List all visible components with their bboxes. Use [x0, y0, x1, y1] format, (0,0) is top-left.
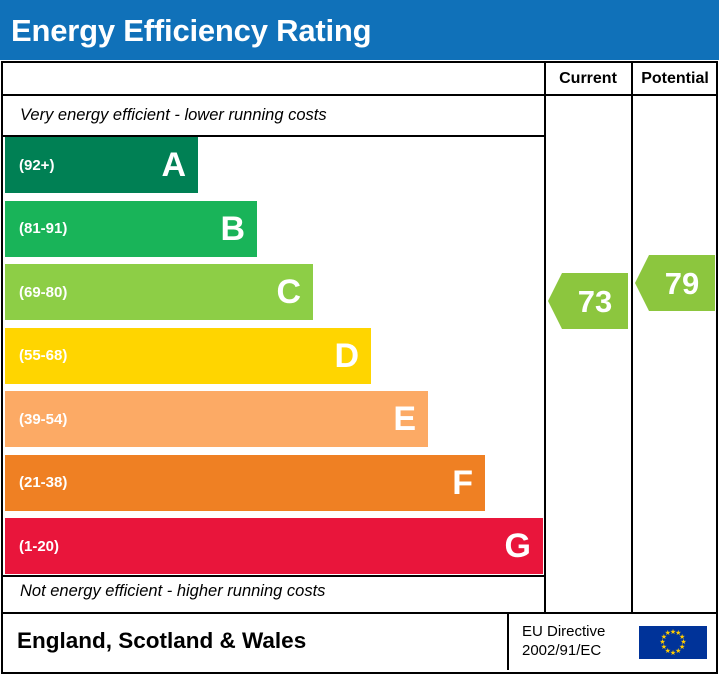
band-letter-f: F — [452, 466, 473, 500]
eu-star-icon: ★ — [664, 630, 671, 637]
rating-band-row-b: (81-91)B — [5, 201, 544, 257]
band-range-f: (21-38) — [19, 474, 67, 491]
rating-value-current: 73 — [564, 286, 612, 317]
chart-header: Energy Efficiency Rating — [0, 0, 719, 60]
band-range-g: (1-20) — [19, 538, 59, 555]
rating-band-row-d: (55-68)D — [5, 328, 544, 384]
rating-bar-f: (21-38)F — [5, 455, 485, 511]
chart-body: Current Potential Very energy efficient … — [1, 61, 718, 614]
eu-flag-icon: ★★★★★★★★★★★★ — [639, 626, 707, 659]
rating-band-row-a: (92+)A — [5, 137, 544, 193]
band-range-d: (55-68) — [19, 347, 67, 364]
caption-bottom: Not energy efficient - higher running co… — [20, 582, 325, 601]
band-range-b: (81-91) — [19, 220, 67, 237]
column-divider-1 — [544, 63, 546, 612]
band-letter-g: G — [505, 529, 531, 563]
band-letter-b: B — [220, 212, 245, 246]
footer-directive-line1: EU Directive — [522, 623, 605, 642]
caption-top: Very energy efficient - lower running co… — [20, 106, 327, 125]
footer-divider — [507, 614, 509, 670]
rating-band-row-e: (39-54)E — [5, 391, 544, 447]
rating-bars: (92+)A(81-91)B(69-80)C(55-68)D(39-54)E(2… — [5, 137, 544, 575]
column-header-current: Current — [545, 63, 631, 94]
column-header-potential: Potential — [632, 63, 718, 94]
rating-bar-d: (55-68)D — [5, 328, 371, 384]
column-divider-2 — [631, 63, 633, 612]
chart-footer: England, Scotland & Wales EU Directive 2… — [1, 614, 718, 674]
band-letter-d: D — [334, 339, 359, 373]
band-range-a: (92+) — [19, 157, 54, 174]
footer-directive: EU Directive 2002/91/EC — [522, 623, 605, 661]
rating-band-row-g: (1-20)G — [5, 518, 544, 574]
band-letter-c: C — [276, 275, 301, 309]
rating-band-row-c: (69-80)C — [5, 264, 544, 320]
rating-bar-a: (92+)A — [5, 137, 198, 193]
rating-bar-b: (81-91)B — [5, 201, 257, 257]
rating-bar-g: (1-20)G — [5, 518, 543, 574]
page-title: Energy Efficiency Rating — [11, 15, 371, 46]
rating-value-potential: 79 — [651, 268, 699, 299]
band-letter-a: A — [161, 148, 186, 182]
rating-marker-potential: 79 — [635, 255, 715, 311]
rating-bar-c: (69-80)C — [5, 264, 313, 320]
band-letter-e: E — [393, 402, 416, 436]
band-range-c: (69-80) — [19, 284, 67, 301]
epc-certificate: Energy Efficiency Rating Current Potenti… — [0, 0, 719, 675]
footer-region: England, Scotland & Wales — [17, 628, 306, 654]
footer-directive-line2: 2002/91/EC — [522, 642, 605, 661]
band-range-e: (39-54) — [19, 411, 67, 428]
rating-marker-current: 73 — [548, 273, 628, 329]
caption-divider-bottom — [3, 575, 544, 577]
rating-band-row-f: (21-38)F — [5, 455, 544, 511]
rating-bar-e: (39-54)E — [5, 391, 428, 447]
